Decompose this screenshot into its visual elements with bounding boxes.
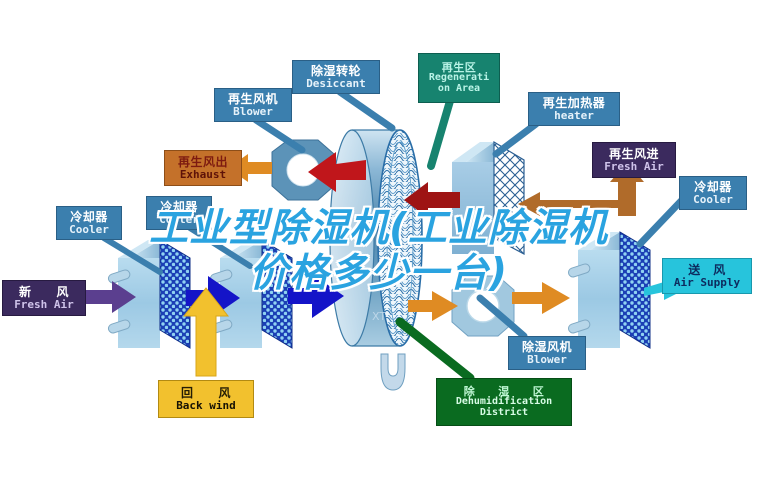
- callout-cooler-left-outer-cn: 冷却器: [70, 211, 108, 224]
- leader-regen-blower: [256, 120, 302, 150]
- callout-cooler-left-inner-cn: 冷却器: [160, 201, 198, 214]
- callout-dehumidification-district: 除 湿 区Dehumidification District: [436, 378, 572, 426]
- callout-fresh-air-in-cn: 新 风: [19, 286, 69, 299]
- callout-regen-heater-en: heater: [554, 110, 594, 122]
- callout-air-supply-en: Air Supply: [674, 277, 740, 289]
- leader-desiccant-wheel: [340, 92, 392, 128]
- callout-regen-blower-en: Blower: [233, 106, 273, 118]
- callout-cooler-left-outer-en: Cooler: [69, 224, 109, 236]
- callout-air-supply: 送 风Air Supply: [662, 258, 752, 294]
- callout-regen-heater-cn: 再生加热器: [543, 97, 606, 110]
- callout-fresh-air-in-en: Fresh Air: [14, 299, 74, 311]
- callout-dehumidification-district-en: Dehumidification District: [456, 397, 552, 418]
- callout-dehumidify-blower-en: Blower: [527, 354, 567, 366]
- callout-cooler-right-en: Cooler: [693, 194, 733, 206]
- leader-cooler-left-outer: [104, 238, 160, 272]
- diagram-canvas: XT: [0, 0, 757, 488]
- callout-dehumidify-blower-cn: 除湿风机: [522, 341, 572, 354]
- callout-exhaust: 再生风出Exhaust: [164, 150, 242, 186]
- leader-cooler-left-inner: [190, 228, 250, 266]
- callout-desiccant-wheel: 除湿转轮Desiccant: [292, 60, 380, 94]
- callout-back-wind-en: Back wind: [176, 400, 236, 412]
- callout-desiccant-wheel-en: Desiccant: [306, 78, 366, 90]
- callout-cooler-right: 冷却器Cooler: [679, 176, 747, 210]
- callout-regen-fresh-air: 再生风进Fresh Air: [592, 142, 676, 178]
- leader-cooler-right: [640, 200, 682, 244]
- callout-air-supply-cn: 送 风: [688, 264, 726, 277]
- callout-regen-fresh-air-en: Fresh Air: [604, 161, 664, 173]
- callout-dehumidify-blower: 除湿风机Blower: [508, 336, 586, 370]
- leader-dehumidification-district: [400, 322, 470, 378]
- callout-exhaust-en: Exhaust: [180, 169, 226, 181]
- leader-regeneration-area: [431, 101, 450, 166]
- callout-cooler-right-cn: 冷却器: [694, 181, 732, 194]
- callout-cooler-left-outer: 冷却器Cooler: [56, 206, 122, 240]
- callout-exhaust-cn: 再生风出: [178, 156, 228, 169]
- callout-regen-blower: 再生风机Blower: [214, 88, 292, 122]
- leader-dehumidify-blower: [480, 298, 524, 336]
- callout-regen-fresh-air-cn: 再生风进: [609, 148, 659, 161]
- callout-cooler-left-inner-en: Cooler: [159, 214, 199, 226]
- callout-back-wind-cn: 回 风: [181, 387, 231, 400]
- callout-regen-blower-cn: 再生风机: [228, 93, 278, 106]
- callout-back-wind: 回 风Back wind: [158, 380, 254, 418]
- callout-regen-heater: 再生加热器heater: [528, 92, 620, 126]
- callout-regeneration-area: 再生区Regenerati on Area: [418, 53, 500, 103]
- callout-fresh-air-in: 新 风Fresh Air: [2, 280, 86, 316]
- callout-regeneration-area-en: Regenerati on Area: [429, 73, 489, 94]
- callout-cooler-left-inner: 冷却器Cooler: [146, 196, 212, 230]
- leader-regen-heater: [496, 124, 536, 154]
- callout-desiccant-wheel-cn: 除湿转轮: [311, 65, 361, 78]
